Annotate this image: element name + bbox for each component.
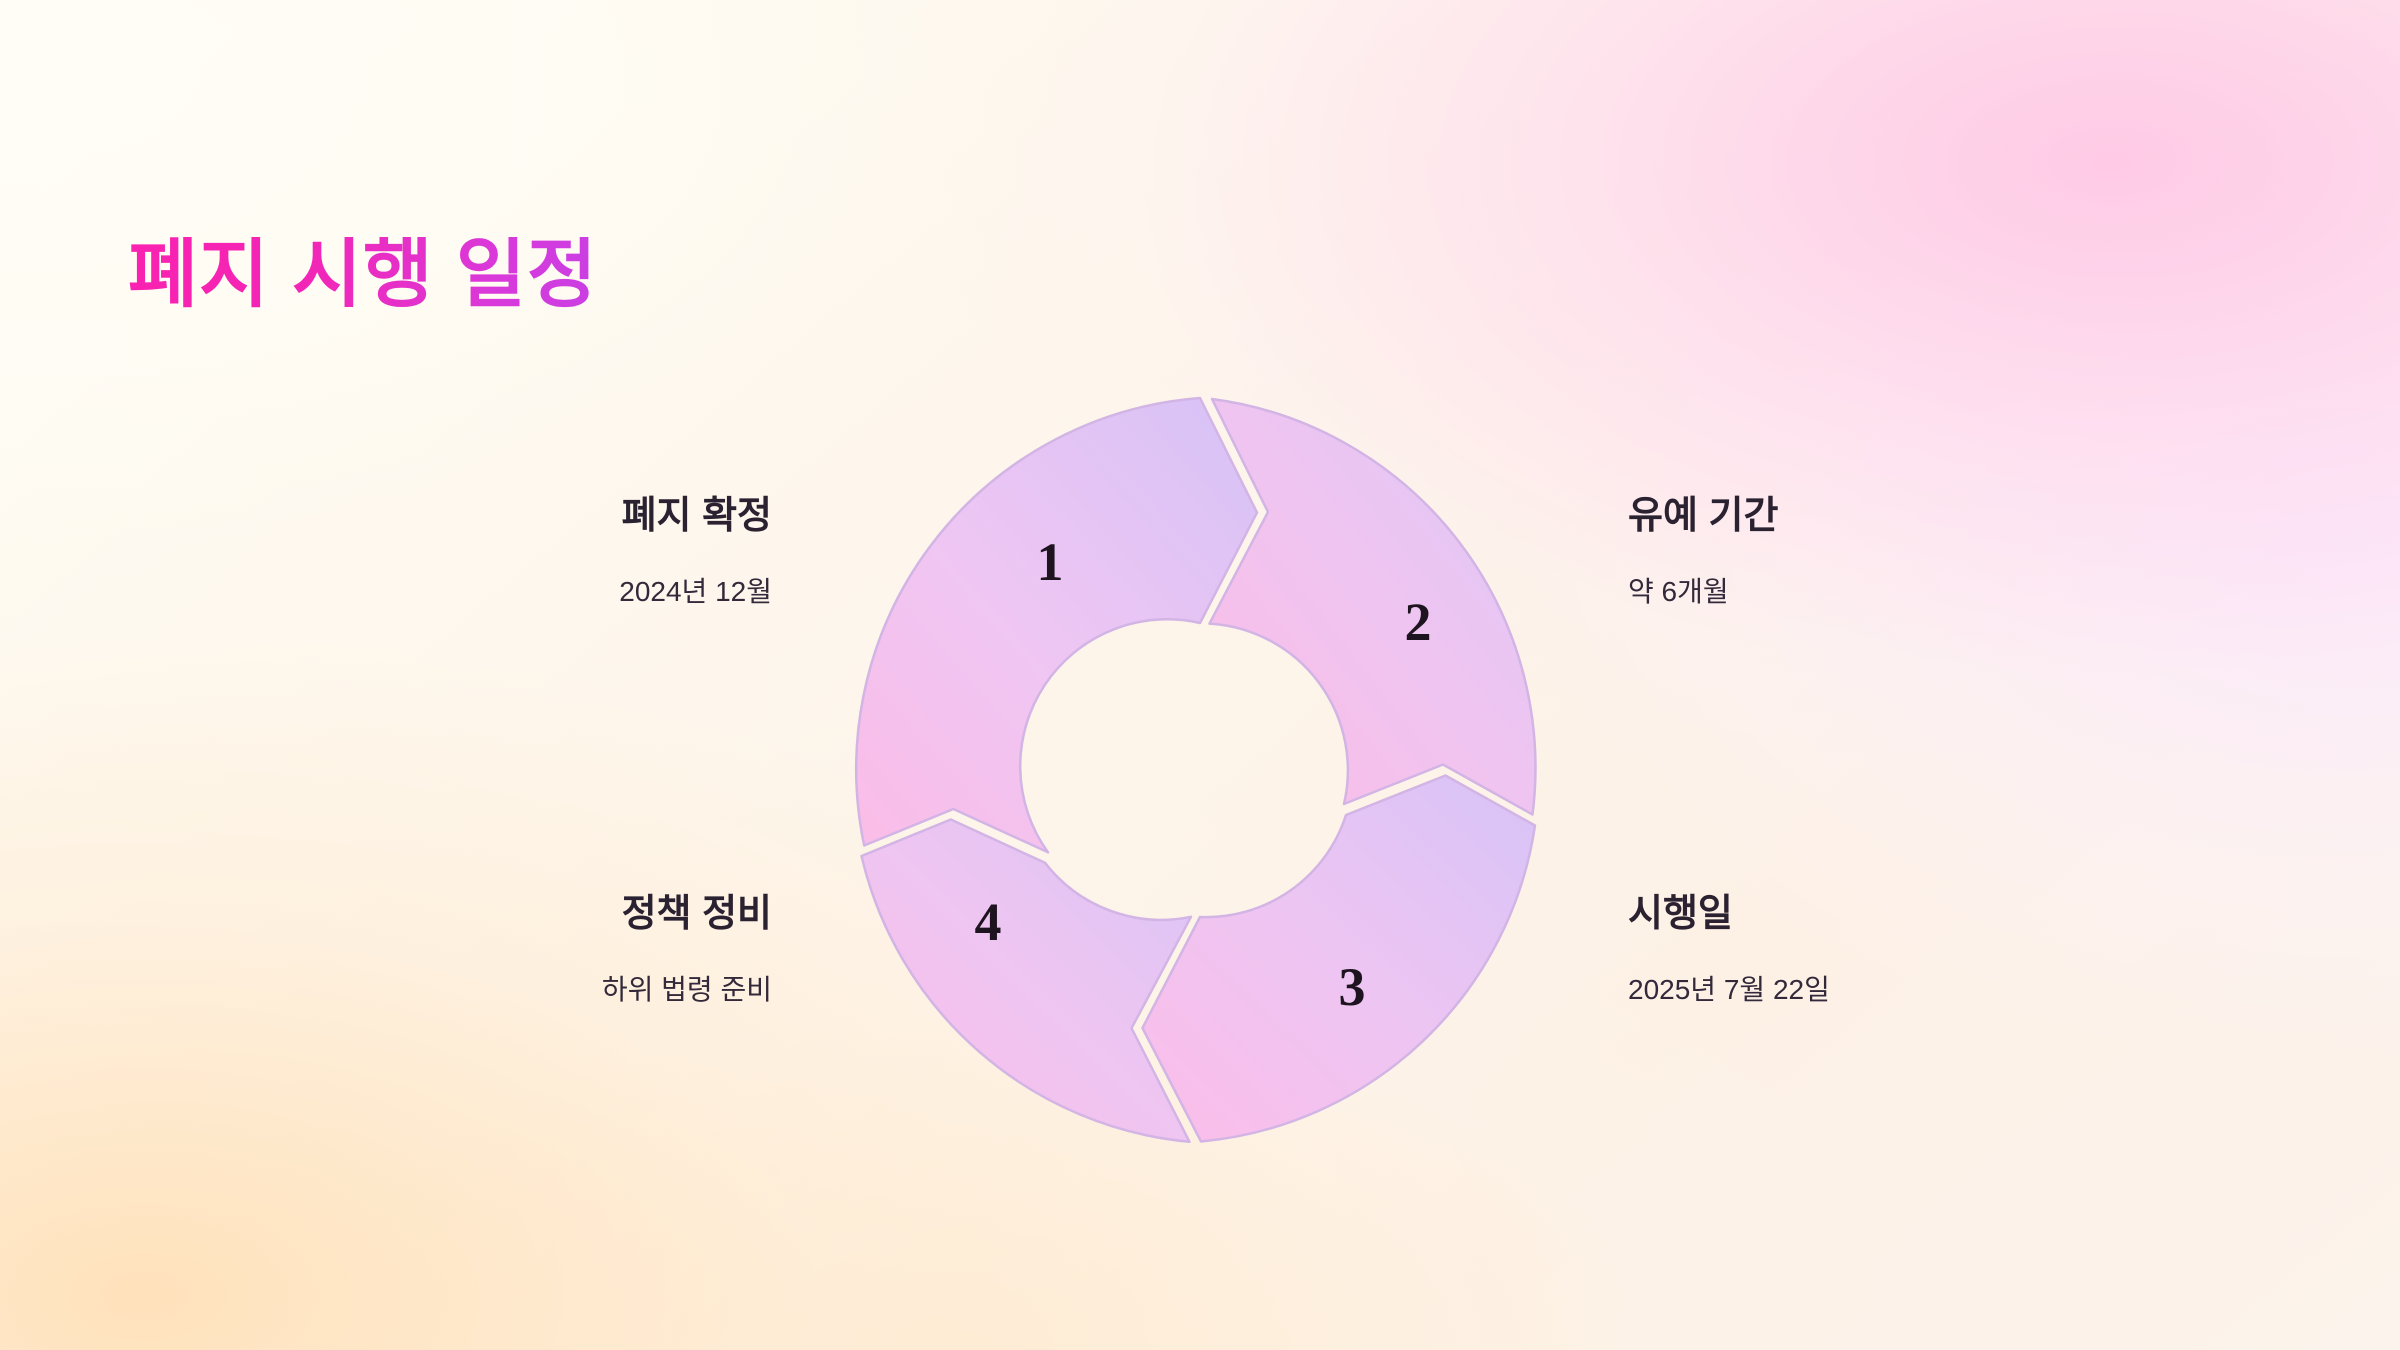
page-title: 폐지 시행 일정	[128, 237, 598, 313]
cycle-donut-chart	[825, 395, 1575, 1145]
step-label-2-sub: 약 6개월	[1628, 575, 1778, 609]
donut-segment-3[interactable]	[1143, 776, 1536, 1142]
slide-canvas: 폐지 시행 일정	[0, 0, 2400, 1350]
step-label-1-sub: 2024년 12월	[619, 575, 772, 609]
step-label-4-sub: 하위 법령 준비	[602, 973, 772, 1007]
step-label-3-title: 시행일	[1628, 893, 1830, 937]
step-label-4: 정책 정비 하위 법령 준비	[602, 893, 772, 1006]
donut-svg	[825, 395, 1575, 1145]
step-label-2-title: 유예 기간	[1628, 495, 1778, 539]
step-label-3: 시행일 2025년 7월 22일	[1628, 893, 1830, 1006]
donut-segment-1[interactable]	[856, 398, 1257, 852]
step-label-3-sub: 2025년 7월 22일	[1628, 973, 1830, 1007]
step-label-1: 폐지 확정 2024년 12월	[619, 495, 772, 608]
donut-segment-4[interactable]	[862, 820, 1192, 1142]
step-label-4-title: 정책 정비	[602, 893, 772, 937]
step-label-1-title: 폐지 확정	[619, 495, 772, 539]
step-label-2: 유예 기간 약 6개월	[1628, 495, 1778, 608]
donut-segment-2[interactable]	[1210, 399, 1536, 815]
